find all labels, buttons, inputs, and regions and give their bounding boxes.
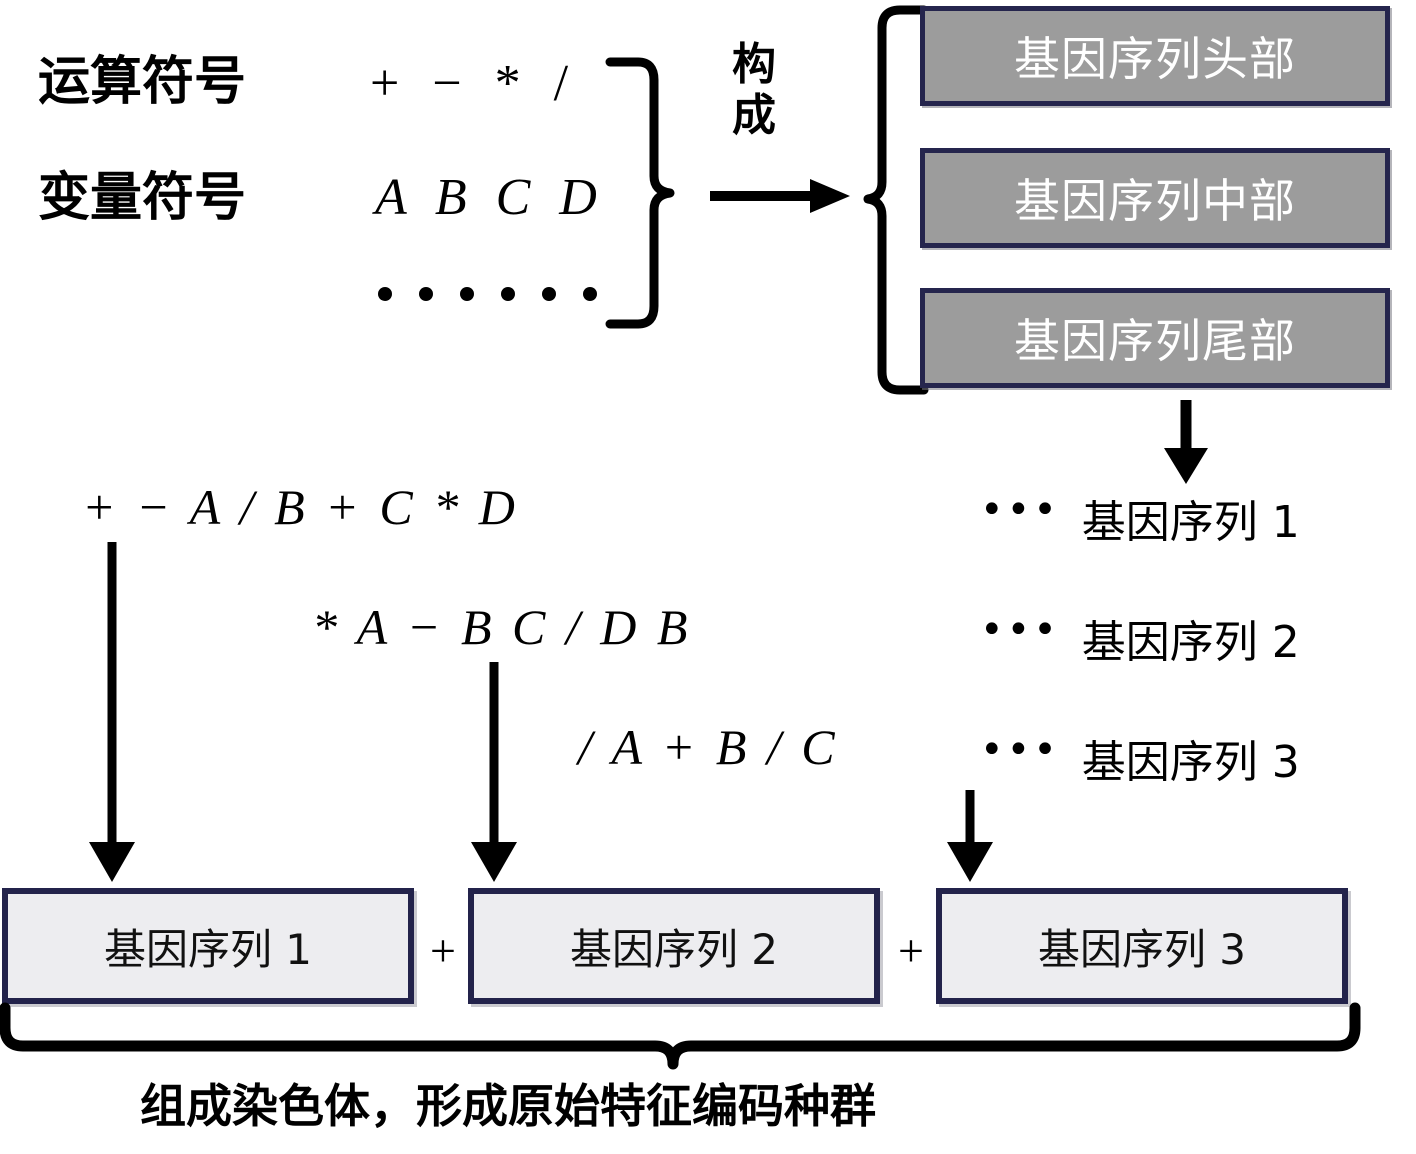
sequence-ellipsis-icon: •••: [980, 610, 1060, 650]
chromosome-joiner-2: +: [898, 928, 924, 974]
gene-part-box-head: 基因序列头部: [920, 6, 1390, 106]
chromosome-box-label: 基因序列 2: [570, 916, 778, 977]
gene-sequence-row-3: ••• 基因序列 3: [980, 726, 1300, 790]
legend-grouping-brace: [608, 58, 678, 328]
chromosome-joiner-1: +: [430, 928, 456, 974]
formula-3: / A + B / C: [578, 722, 839, 772]
ellipsis-dot: [419, 287, 433, 301]
gene-part-box-middle: 基因序列中部: [920, 148, 1390, 248]
ellipsis-dot: [460, 287, 474, 301]
formula-1: + − A / B + C * D: [82, 482, 519, 532]
ellipsis-dot: [583, 287, 597, 301]
chromosome-grouping-brace: [0, 1006, 1360, 1070]
sequence-label: 基因序列 2: [1082, 606, 1300, 670]
sequence-ellipsis-icon: •••: [980, 490, 1060, 530]
gene-sequence-row-2: ••• 基因序列 2: [980, 606, 1300, 670]
chromosome-box-label: 基因序列 1: [104, 916, 312, 977]
formula-2: * A − B C / D B: [312, 602, 691, 652]
formula-3-to-box-arrow: [942, 790, 998, 882]
chromosome-box-2: 基因序列 2: [468, 888, 880, 1004]
sequence-ellipsis-icon: •••: [980, 730, 1060, 770]
gene-part-label: 基因序列中部: [1014, 165, 1296, 231]
gene-parts-grouping-brace: [866, 6, 928, 394]
diagram-canvas: 运算符号 + − * / 变量符号 A B C D 构 成 基因序列头: [0, 0, 1416, 1154]
formula-1-to-box-arrow: [84, 542, 140, 882]
compose-label: 构 成: [714, 40, 794, 141]
sequence-label: 基因序列 3: [1082, 726, 1300, 790]
chromosome-box-3: 基因序列 3: [936, 888, 1348, 1004]
variable-symbols: A B C D: [375, 172, 605, 224]
gene-part-label: 基因序列头部: [1014, 23, 1296, 89]
gene-parts-to-sequence-arrow: [1158, 400, 1214, 484]
ellipsis-dot: [378, 287, 392, 301]
chromosome-box-label: 基因序列 3: [1038, 916, 1246, 977]
variable-symbol-label: 变量符号: [38, 172, 246, 224]
operator-symbol-label: 运算符号: [38, 56, 246, 108]
ellipsis-dot: [542, 287, 556, 301]
compose-arrow: [710, 172, 850, 220]
sequence-label: 基因序列 1: [1082, 486, 1300, 550]
ellipsis-dot: [501, 287, 515, 301]
operator-symbols: + − * /: [370, 58, 578, 110]
gene-part-label: 基因序列尾部: [1014, 305, 1296, 371]
chromosome-caption: 组成染色体，形成原始特征编码种群: [140, 1070, 876, 1136]
gene-sequence-row-1: ••• 基因序列 1: [980, 486, 1300, 550]
formula-2-to-box-arrow: [466, 662, 522, 882]
legend-ellipsis-dots: [378, 287, 597, 301]
gene-part-box-tail: 基因序列尾部: [920, 288, 1390, 388]
chromosome-box-1: 基因序列 1: [2, 888, 414, 1004]
